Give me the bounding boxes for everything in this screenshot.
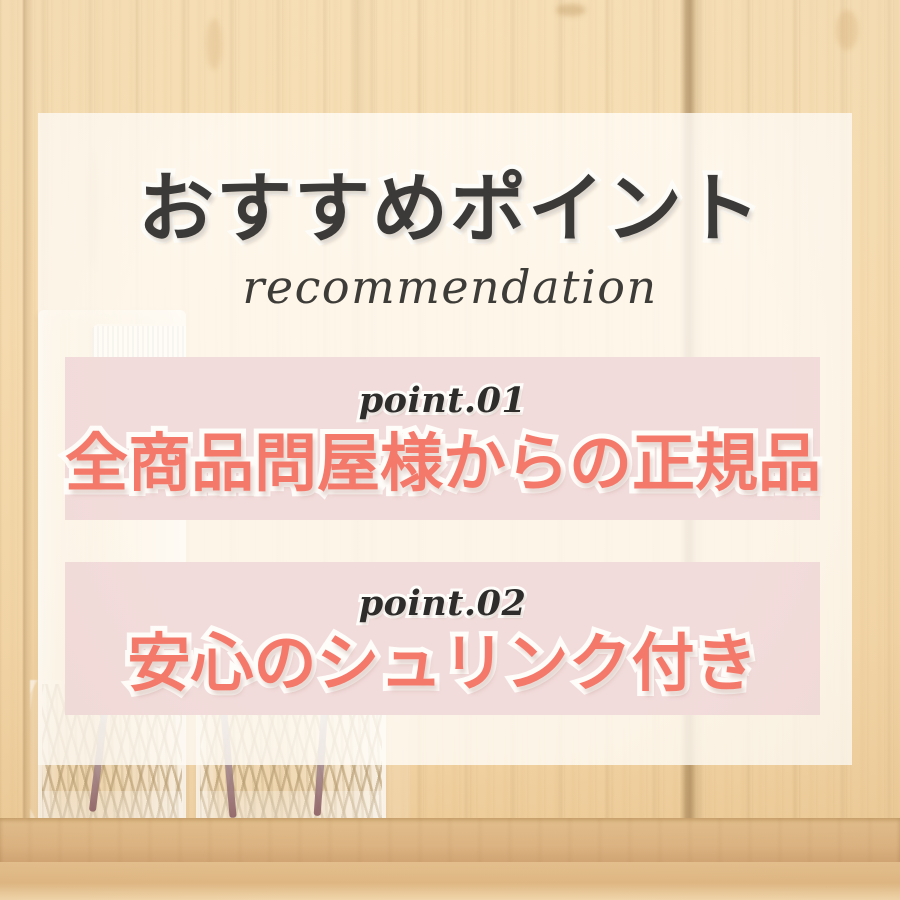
wood-knot [836, 10, 858, 50]
point-box-01: point.01 全商品問屋様からの正規品 [65, 357, 820, 520]
point-text-02: 安心のシュリンク付き [65, 632, 820, 695]
page-title: おすすめポイント [0, 171, 900, 247]
point-box-02: point.02 安心のシュリンク付き [65, 562, 820, 715]
point-text-01: 全商品問屋様からの正規品 [65, 432, 820, 495]
point-label-02: point.02 [65, 586, 820, 621]
wood-knot [206, 18, 222, 70]
point-label-01: point.01 [65, 383, 820, 418]
page-subtitle: recommendation [0, 264, 900, 310]
recommendation-banner: おすすめポイント recommendation point.01 全商品問屋様か… [0, 0, 900, 900]
wooden-shelf-front-edge [0, 862, 900, 900]
wood-knot [556, 4, 586, 16]
